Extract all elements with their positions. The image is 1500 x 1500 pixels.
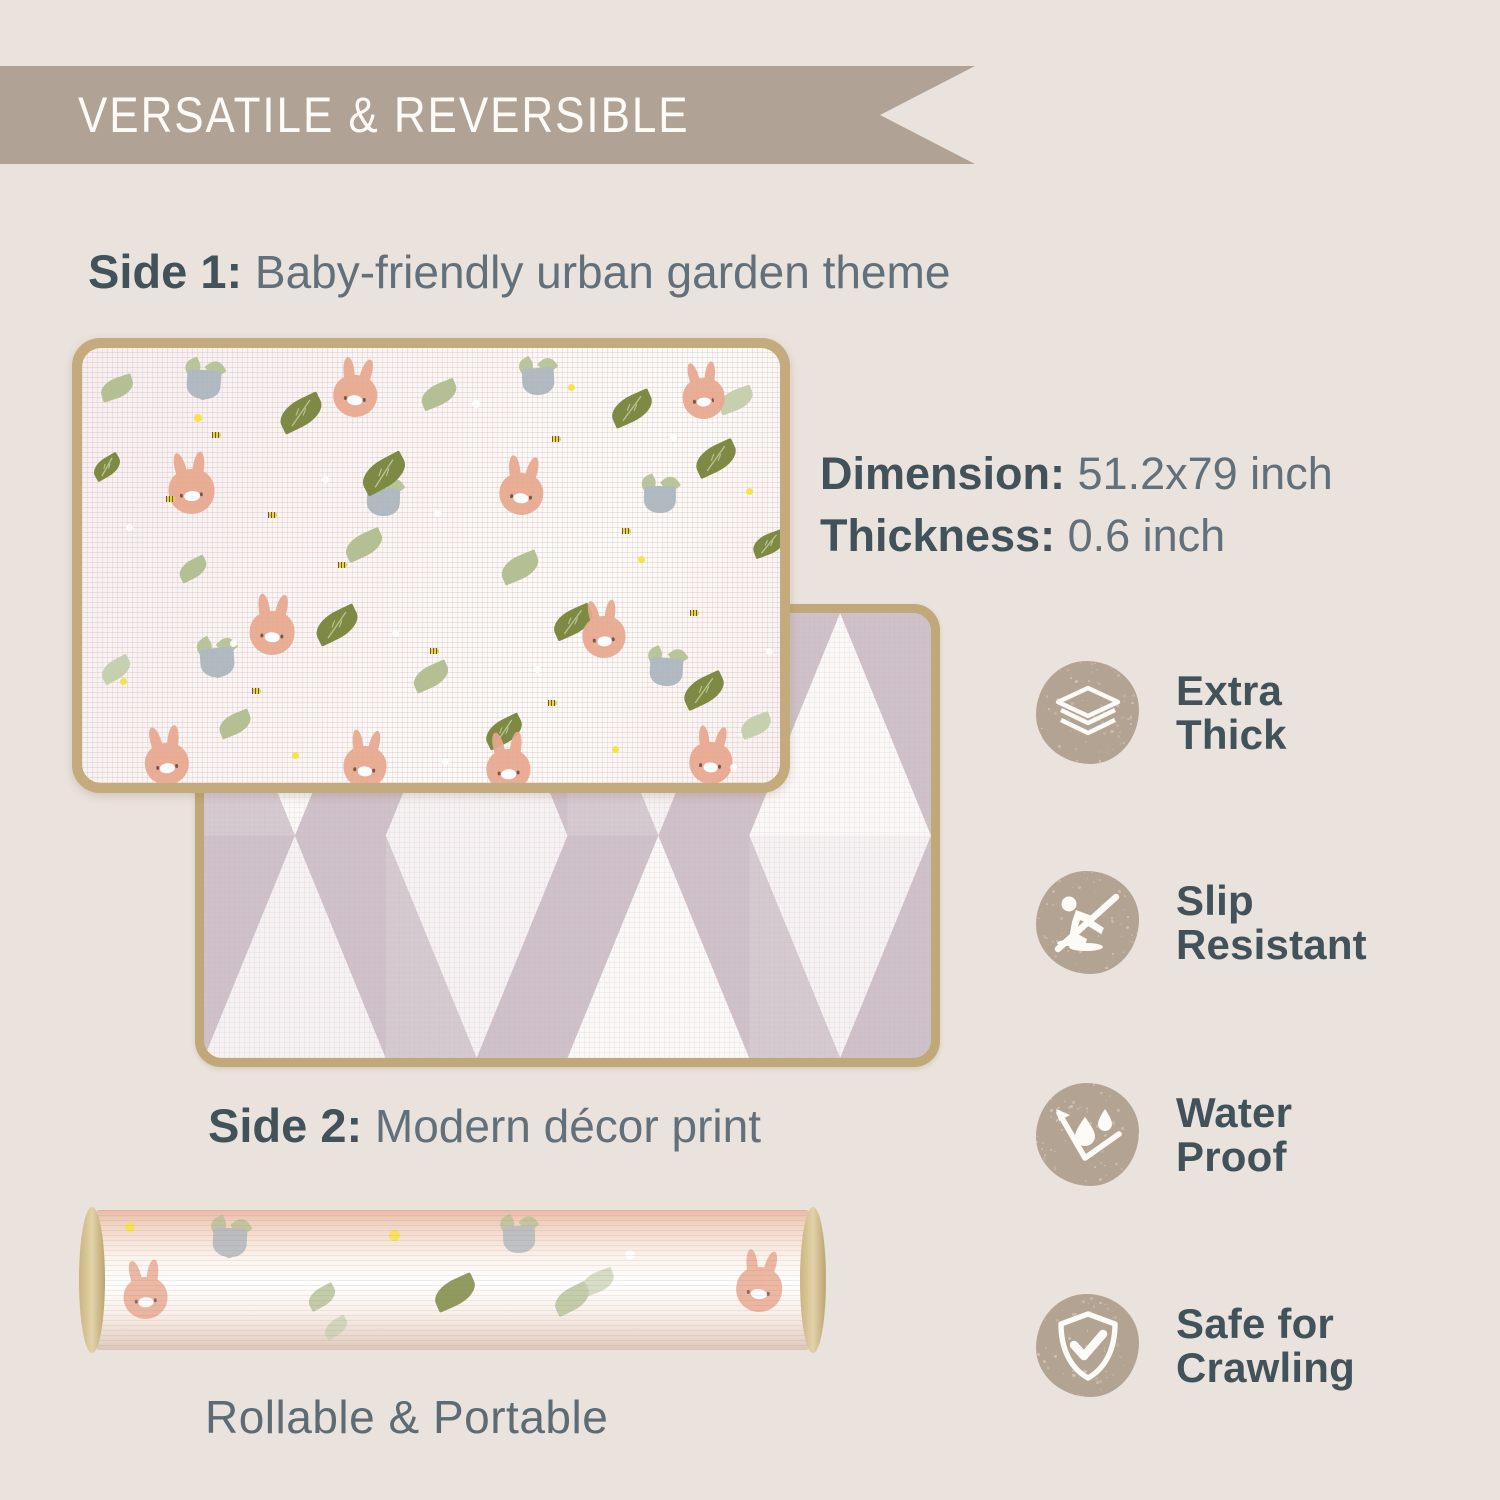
feature-label: Slip Resistant — [1176, 879, 1367, 966]
side2-heading: Side 2: Modern décor print — [208, 1098, 761, 1153]
dot-motif — [638, 556, 645, 563]
thickness-value: 0.6 inch — [1055, 510, 1225, 561]
thickness-row: Thickness: 0.6 inch — [820, 510, 1225, 562]
banner-title: VERSATILE & REVERSIBLE — [78, 86, 690, 144]
bee-motif — [430, 648, 439, 654]
feature-slip-resistant: Slip Resistant — [1036, 871, 1367, 974]
bunny-motif — [497, 454, 546, 517]
playmat-side1-image — [72, 338, 790, 793]
bee-motif — [622, 528, 631, 534]
dot-motif — [120, 678, 127, 685]
badge-speckle-texture — [1036, 1294, 1139, 1397]
dimension-value: 51.2x79 inch — [1065, 448, 1333, 499]
feature-label: Water Proof — [1176, 1091, 1292, 1178]
dot-motif — [534, 666, 541, 673]
feature-extra-thick: Extra Thick — [1036, 661, 1287, 764]
rolled-playmat-image — [85, 1210, 820, 1350]
roll-end-cap-left — [79, 1207, 105, 1353]
bee-motif — [690, 610, 699, 616]
thickness-label: Thickness: — [820, 510, 1055, 561]
bee-motif — [212, 432, 221, 438]
dot-motif — [472, 400, 480, 408]
feature-water-proof: Water Proof — [1036, 1083, 1292, 1186]
side1-description: Baby-friendly urban garden theme — [242, 246, 950, 298]
bee-motif — [166, 496, 175, 502]
tulip-motif — [649, 647, 684, 687]
badge-speckle-texture — [1036, 661, 1139, 764]
dimension-row: Dimension: 51.2x79 inch — [820, 448, 1333, 500]
badge-speckle-texture — [1036, 871, 1139, 974]
dot-motif — [568, 384, 575, 391]
bunny-motif — [580, 599, 627, 660]
infographic-canvas: VERSATILE & REVERSIBLE Side 1: Baby-frie… — [0, 0, 1500, 1500]
feature-safe-for-crawling: Safe for Crawling — [1036, 1294, 1355, 1397]
bee-motif — [338, 562, 347, 568]
dot-motif — [194, 414, 202, 422]
badge-speckle-texture — [1036, 1083, 1139, 1186]
bunny-motif — [688, 724, 736, 783]
rollable-caption: Rollable & Portable — [205, 1390, 608, 1444]
mat1-surface — [82, 348, 780, 783]
bunny-motif — [331, 356, 381, 420]
banner-ribbon: VERSATILE & REVERSIBLE — [0, 66, 975, 164]
dot-motif — [746, 488, 753, 495]
dot-motif — [434, 510, 441, 517]
tulip-motif — [644, 476, 677, 513]
droplet-icon — [1036, 1083, 1139, 1186]
shield-check-icon — [1036, 1294, 1139, 1397]
dot-motif — [442, 758, 449, 765]
layers-icon — [1036, 661, 1139, 764]
bunny-motif — [141, 724, 191, 783]
dot-motif — [230, 640, 237, 647]
dot-motif — [292, 752, 299, 759]
bunny-motif — [680, 360, 727, 420]
roll-body — [85, 1210, 820, 1350]
dot-motif — [126, 524, 133, 531]
bee-motif — [548, 700, 557, 706]
dot-motif — [670, 434, 677, 441]
side2-description: Modern décor print — [362, 1100, 761, 1152]
side1-heading: Side 1: Baby-friendly urban garden theme — [88, 244, 950, 299]
bee-motif — [252, 688, 261, 694]
slip-icon — [1036, 871, 1139, 974]
dot-motif — [730, 764, 737, 771]
tulip-motif — [521, 357, 555, 395]
roll-end-cap-right — [800, 1207, 826, 1353]
bee-motif — [268, 512, 277, 518]
side2-label: Side 2: — [208, 1099, 362, 1152]
roll-ridges — [85, 1210, 820, 1350]
dot-motif — [766, 648, 773, 655]
bunny-motif — [484, 731, 531, 783]
feature-label: Safe for Crawling — [1176, 1302, 1355, 1389]
tulip-motif — [186, 359, 223, 400]
dot-motif — [392, 630, 399, 637]
dot-motif — [322, 476, 329, 483]
dot-motif — [612, 746, 619, 753]
bee-motif — [552, 436, 561, 442]
bunny-motif — [248, 593, 296, 656]
dimension-label: Dimension: — [820, 448, 1065, 499]
side1-label: Side 1: — [88, 245, 242, 298]
bunny-motif — [166, 450, 216, 515]
feature-label: Extra Thick — [1176, 669, 1287, 756]
bunny-motif — [342, 729, 389, 783]
